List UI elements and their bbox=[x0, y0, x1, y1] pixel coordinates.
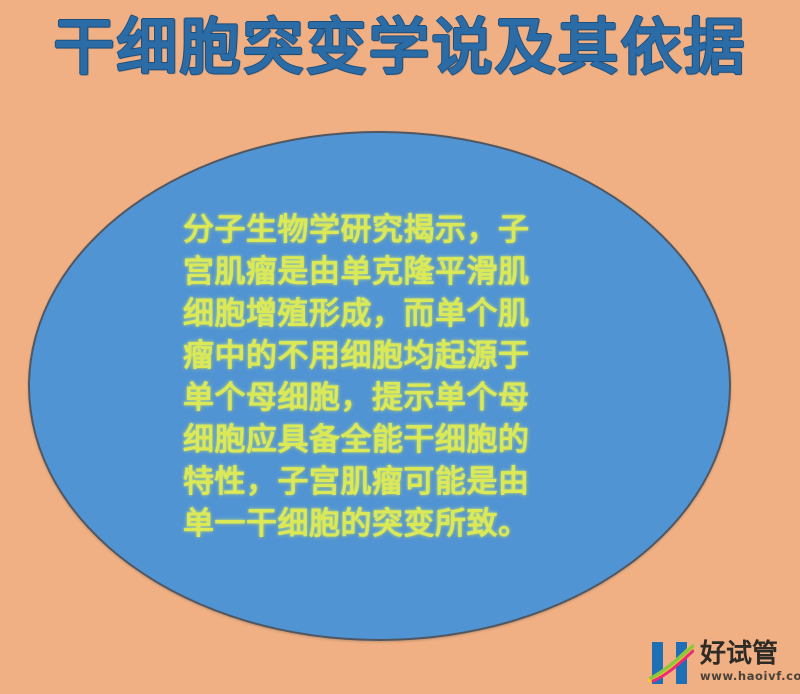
body-line: 分子生物学研究揭示，子 bbox=[183, 209, 575, 251]
watermark: 好试管 www.haoivf.com bbox=[648, 633, 796, 691]
page-title: 干细胞突变学说及其依据 bbox=[0, 10, 800, 86]
body-line: 细胞应具备全能干细胞的 bbox=[183, 419, 575, 461]
watermark-text-group: 好试管 www.haoivf.com bbox=[700, 641, 800, 683]
body-line: 单个母细胞，提示单个母 bbox=[183, 377, 575, 419]
watermark-brand: 好试管 bbox=[700, 641, 800, 667]
body-line: 单一干细胞的突变所致。 bbox=[183, 503, 575, 545]
haoivf-logo-icon bbox=[648, 638, 694, 686]
body-line: 细胞增殖形成，而单个肌 bbox=[183, 293, 575, 335]
body-line: 瘤中的不用细胞均起源于 bbox=[183, 335, 575, 377]
ellipse-body-text: 分子生物学研究揭示，子 宫肌瘤是由单克隆平滑肌 细胞增殖形成，而单个肌 瘤中的不… bbox=[183, 209, 575, 545]
watermark-url: www.haoivf.com bbox=[700, 671, 800, 683]
slide-canvas: 干细胞突变学说及其依据 分子生物学研究揭示，子 宫肌瘤是由单克隆平滑肌 细胞增殖… bbox=[0, 0, 800, 694]
body-line: 宫肌瘤是由单克隆平滑肌 bbox=[183, 251, 575, 293]
body-line: 特性，子宫肌瘤可能是由 bbox=[183, 461, 575, 503]
